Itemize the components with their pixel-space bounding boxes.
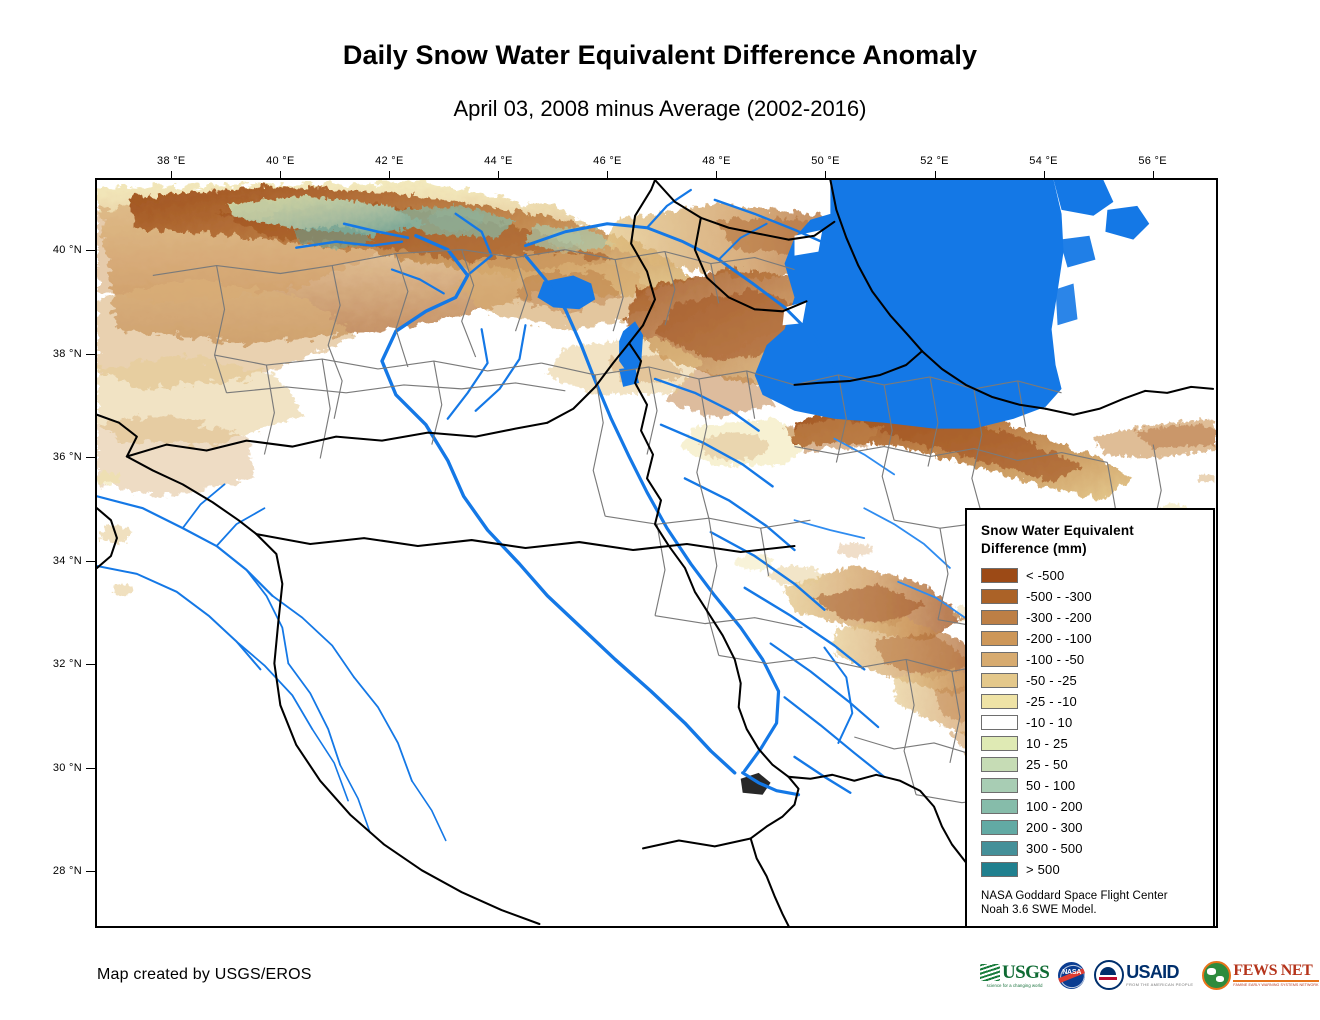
lat-axis-tick [86,768,95,769]
usaid-logo-text: USAID [1126,963,1193,981]
lat-axis-label: 40 °N [40,244,82,256]
nasa-logo-text: NASA [1058,969,1085,976]
legend-label: -10 - 10 [1026,715,1072,730]
legend-row: < -500 [981,565,1203,586]
lat-axis-tick [86,250,95,251]
lat-axis-tick [86,871,95,872]
legend-title-line2: Difference (mm) [981,540,1203,558]
legend-swatch [981,862,1018,877]
lon-axis-label: 38 °E [157,155,186,167]
legend-label: -300 - -200 [1026,610,1092,625]
legend-label: -25 - -10 [1026,694,1077,709]
lat-axis-label: 38 °N [40,348,82,360]
lat-axis-label: 34 °N [40,555,82,567]
legend-row: 50 - 100 [981,775,1203,796]
legend-row: 200 - 300 [981,817,1203,838]
nasa-meatball-icon: NASA [1058,962,1085,989]
legend-label: < -500 [1026,568,1064,583]
legend-swatch [981,757,1018,772]
legend-row: -25 - -10 [981,691,1203,712]
footer-credit: Map created by USGS/EROS [97,966,312,984]
legend-swatch [981,652,1018,667]
lon-axis-label: 50 °E [811,155,840,167]
usaid-tagline: FROM THE AMERICAN PEOPLE [1126,982,1193,987]
legend-row: 10 - 25 [981,733,1203,754]
legend-swatch [981,778,1018,793]
legend-label: 200 - 300 [1026,820,1083,835]
legend-swatch [981,841,1018,856]
legend-swatch [981,673,1018,688]
page-subtitle: April 03, 2008 minus Average (2002-2016) [0,96,1320,122]
lat-axis-label: 36 °N [40,451,82,463]
legend-row: 300 - 500 [981,838,1203,859]
legend-swatch [981,820,1018,835]
legend-label: 100 - 200 [1026,799,1083,814]
page-title: Daily Snow Water Equivalent Difference A… [0,40,1320,71]
map-page: Daily Snow Water Equivalent Difference A… [0,0,1320,1020]
legend-swatch [981,736,1018,751]
nasa-logo: NASA [1058,958,1085,992]
legend-label: 25 - 50 [1026,757,1068,772]
legend-swatch [981,589,1018,604]
legend-label: -500 - -300 [1026,589,1092,604]
lat-axis-label: 32 °N [40,658,82,670]
lat-axis-tick [86,354,95,355]
legend-row: -100 - -50 [981,649,1203,670]
fews-globe-icon [1202,961,1231,990]
legend-swatch [981,799,1018,814]
legend-label: > 500 [1026,862,1060,877]
legend-row: -10 - 10 [981,712,1203,733]
usgs-waves-icon [980,964,1000,981]
legend-class-list: < -500-500 - -300-300 - -200-200 - -100-… [981,565,1203,880]
lon-axis-label: 52 °E [920,155,949,167]
logo-bar: USGS science for a changing world NASA U… [980,957,1319,993]
fews-tagline: FAMINE EARLY WARNING SYSTEMS NETWORK [1233,983,1318,987]
usgs-tagline: science for a changing world [987,983,1043,988]
legend-label: -100 - -50 [1026,652,1084,667]
legend-title-line1: Snow Water Equivalent [981,522,1203,540]
lon-axis-label: 42 °E [375,155,404,167]
legend-source-line2: Noah 3.6 SWE Model. [981,903,1203,917]
usgs-logo: USGS science for a changing world [980,958,1049,992]
lat-axis-tick [86,664,95,665]
lon-axis-label: 54 °E [1029,155,1058,167]
legend-swatch [981,610,1018,625]
legend-row: -50 - -25 [981,670,1203,691]
legend-row: -300 - -200 [981,607,1203,628]
legend-row: 100 - 200 [981,796,1203,817]
lon-axis-label: 56 °E [1138,155,1167,167]
fews-net-logo: FEWS NET FAMINE EARLY WARNING SYSTEMS NE… [1202,958,1318,992]
legend-swatch [981,568,1018,583]
lon-axis-label: 44 °E [484,155,513,167]
legend-swatch [981,631,1018,646]
usaid-seal-icon [1094,960,1124,990]
lat-axis-label: 28 °N [40,865,82,877]
lon-axis-label: 46 °E [593,155,622,167]
legend-source: NASA Goddard Space Flight Center Noah 3.… [981,889,1203,918]
legend-label: -200 - -100 [1026,631,1092,646]
lon-axis-label: 48 °E [702,155,731,167]
legend-title: Snow Water Equivalent Difference (mm) [981,522,1203,558]
legend-label: 50 - 100 [1026,778,1075,793]
legend-row: -500 - -300 [981,586,1203,607]
legend-row: -200 - -100 [981,628,1203,649]
legend-swatch [981,694,1018,709]
legend-row: 25 - 50 [981,754,1203,775]
legend-label: -50 - -25 [1026,673,1077,688]
legend-label: 10 - 25 [1026,736,1068,751]
legend-row: > 500 [981,859,1203,880]
lat-axis-tick [86,561,95,562]
lat-axis-tick [86,457,95,458]
lon-axis-label: 40 °E [266,155,295,167]
legend-source-line1: NASA Goddard Space Flight Center [981,889,1203,903]
usaid-logo: USAID FROM THE AMERICAN PEOPLE [1094,958,1193,992]
lat-axis-label: 30 °N [40,762,82,774]
map-legend: Snow Water Equivalent Difference (mm) < … [965,508,1215,928]
fews-logo-text: FEWS NET [1233,963,1318,979]
usgs-logo-text: USGS [1002,963,1049,982]
legend-swatch [981,715,1018,730]
legend-label: 300 - 500 [1026,841,1083,856]
